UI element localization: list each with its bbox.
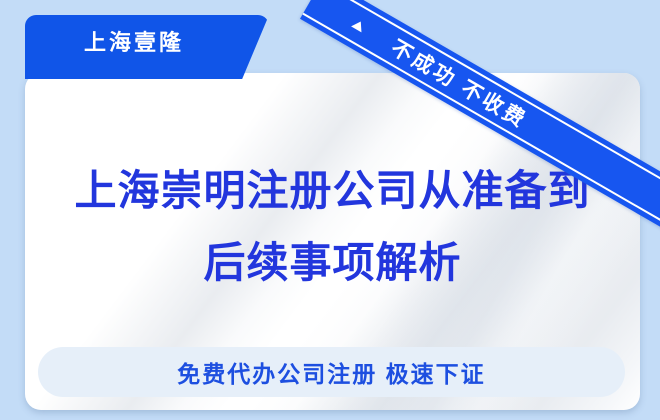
- promo-poster: 上海壹隆 不成功 不收费 上海崇明注册公司从准备到 后续事项解析 免费代办公司注…: [0, 0, 660, 420]
- brand-tab-label: 上海壹隆: [25, 28, 243, 58]
- page-title-line-1: 上海崇明注册公司从准备到: [25, 155, 640, 227]
- cta-banner[interactable]: 免费代办公司注册 极速下证: [38, 347, 625, 397]
- cta-banner-label: 免费代办公司注册 极速下证: [177, 355, 485, 389]
- page-title-line-2: 后续事项解析: [25, 227, 640, 299]
- brand-tab[interactable]: 上海壹隆: [25, 15, 269, 79]
- page-title: 上海崇明注册公司从准备到 后续事项解析: [25, 155, 640, 299]
- triangle-icon: [351, 18, 366, 32]
